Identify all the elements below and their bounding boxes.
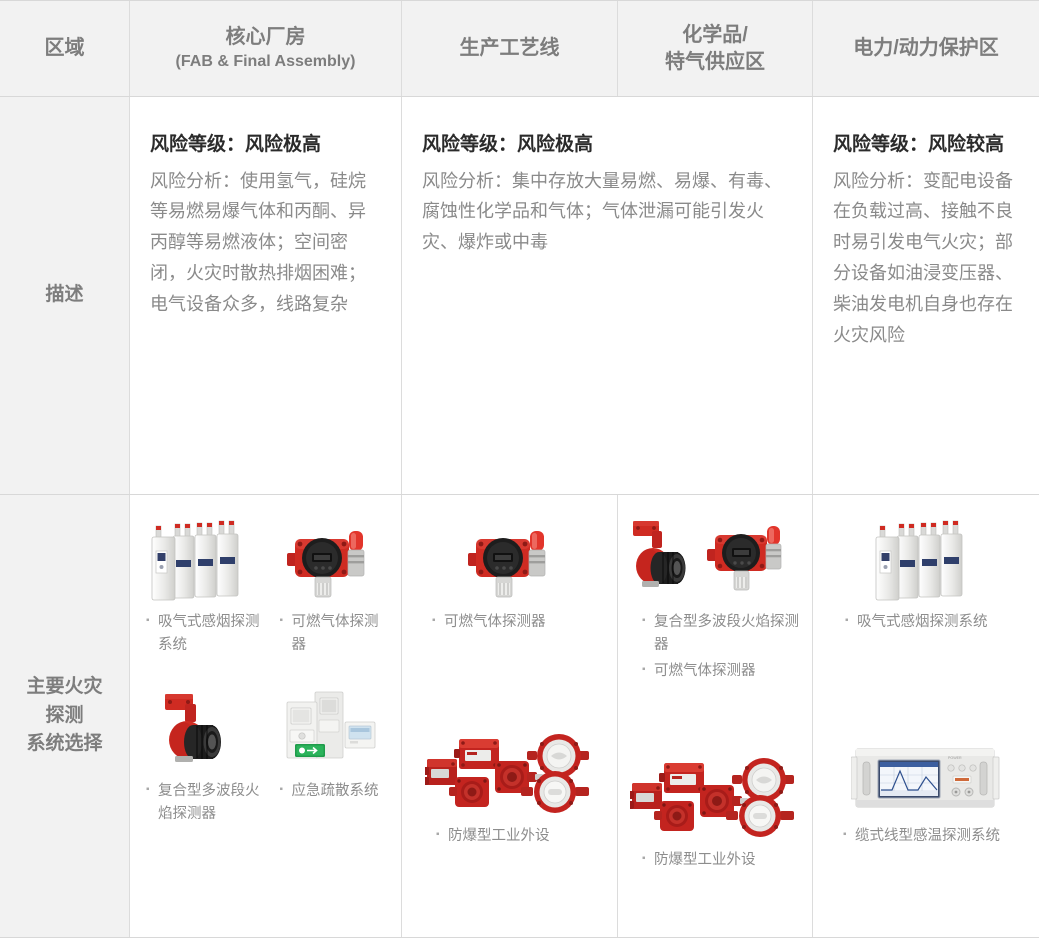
product-flame-and-gas-detectors[interactable]: 复合型多波段火焰探测器 可燃气体探测器	[626, 505, 804, 685]
header-label-production-line: 生产工艺线	[460, 35, 560, 62]
table-header-row: 区域 核心厂房 (FAB & Final Assembly) 生产工艺线 化学品…	[0, 1, 1039, 97]
bullet-icon	[436, 825, 448, 848]
table-header-chemical-gas: 化学品/ 特气供应区	[618, 1, 813, 96]
row-label-detection-systems: 主要火灾 探测 系统选择	[0, 495, 130, 937]
label-list-aspirating-smoke: 吸气式感烟探测系统	[138, 603, 266, 660]
list-item: 防爆型工业外设	[436, 825, 607, 848]
bullet-icon	[280, 611, 292, 658]
table-description-row: 描述 风险等级：风险极高 风险分析：使用氢气，硅烷等易燃易爆气体和丙酮、异丙醇等…	[0, 97, 1039, 495]
description-cell-core-fab: 风险等级：风险极高 风险分析：使用氢气，硅烷等易燃易爆气体和丙酮、异丙醇等易燃液…	[130, 97, 402, 494]
header-sublabel-chemical-gas: 特气供应区	[665, 49, 765, 76]
bullet-icon	[146, 780, 158, 827]
description-cell-production-and-chemical: 风险等级：风险极高 风险分析：集中存放大量易燃、易爆、有毒、腐蚀性化学品和气体；…	[402, 97, 813, 494]
product-aspirating-smoke-detector[interactable]: 吸气式感烟探测系统	[821, 505, 1031, 636]
table-header-power-zone: 电力/动力保护区	[813, 1, 1039, 96]
risk-level-production-chemical: 风险等级：风险极高	[422, 131, 794, 160]
label-list-explosion-proof: 防爆型工业外设	[626, 841, 804, 874]
list-item: 复合型多波段火焰探测器	[146, 780, 264, 827]
product-aspirating-smoke-detector[interactable]: 吸气式感烟探测系统	[138, 505, 266, 660]
table-header-area: 区域	[0, 1, 130, 96]
list-item: 复合型多波段火焰探测器	[642, 611, 802, 658]
risk-level-core-fab: 风险等级：风险极高	[150, 131, 383, 160]
multispectrum-flame-detector-icon	[149, 680, 254, 772]
combustible-gas-detector-icon	[279, 511, 379, 603]
bullet-icon	[642, 660, 654, 683]
explosion-proof-peripherals-icon	[630, 741, 800, 841]
list-item: 应急疏散系统	[280, 780, 392, 803]
table-detection-systems-row: 主要火灾 探测 系统选择	[0, 495, 1039, 937]
header-label-chemical-gas: 化学品/	[682, 24, 748, 46]
emergency-evacuation-system-icon	[277, 680, 382, 772]
header-sublabel-core-fab: (FAB & Final Assembly)	[176, 51, 356, 73]
product-multispectrum-flame-detector[interactable]: 复合型多波段火焰探测器	[138, 674, 266, 829]
bullet-icon	[280, 780, 292, 803]
list-item: 吸气式感烟探测系统	[146, 611, 264, 658]
description-cell-power-zone: 风险等级：风险较高 风险分析：变配电设备在负载过高、接触不良时易引发电气火灾；部…	[813, 97, 1039, 494]
svg-text:POWER: POWER	[948, 756, 962, 760]
risk-level-power-zone: 风险等级：风险较高	[833, 131, 1021, 160]
product-emergency-evacuation-system[interactable]: 应急疏散系统	[266, 674, 394, 829]
header-label-core-fab: 核心厂房	[225, 26, 305, 48]
list-item: 可燃气体探测器	[642, 660, 802, 683]
table-header-core-fab: 核心厂房 (FAB & Final Assembly)	[130, 1, 402, 96]
risk-analysis-core-fab: 风险分析：使用氢气，硅烷等易燃易爆气体和丙酮、异丙醇等易燃液体；空间密闭，火灾时…	[150, 166, 383, 321]
risk-analysis-power-zone: 风险分析：变配电设备在负载过高、接触不良时易引发电气火灾；部分设备如油浸变压器、…	[833, 166, 1021, 352]
combustible-gas-detector-icon	[460, 511, 560, 603]
aspirating-smoke-detector-cabinets-icon	[147, 511, 257, 603]
label-list-combustible-gas: 可燃气体探测器	[266, 603, 394, 660]
risk-analysis-production-chemical: 风险分析：集中存放大量易燃、易爆、有毒、腐蚀性化学品和气体；气体泄漏可能引发火灾…	[422, 166, 794, 259]
label-list-evacuation: 应急疏散系统	[266, 772, 394, 805]
aspirating-smoke-detector-cabinets-icon	[871, 511, 981, 603]
risk-detection-comparison-table: 区域 核心厂房 (FAB & Final Assembly) 生产工艺线 化学品…	[0, 0, 1039, 938]
explosion-proof-peripherals-icon	[425, 717, 595, 817]
bullet-icon	[432, 611, 444, 634]
product-combustible-gas-detector[interactable]: 可燃气体探测器	[410, 505, 609, 636]
label-list-linear-heat: 缆式线型感温探测系统	[821, 817, 1031, 850]
row-label-description: 描述	[0, 97, 130, 494]
list-item: 缆式线型感温探测系统	[843, 825, 1029, 848]
header-label-power-zone: 电力/动力保护区	[853, 35, 999, 62]
label-list-combustible-gas: 可燃气体探测器	[410, 603, 609, 636]
detection-cell-chemical-gas: 复合型多波段火焰探测器 可燃气体探测器	[618, 495, 813, 937]
label-list-flame-detector: 复合型多波段火焰探测器	[138, 772, 266, 829]
label-list-flame-and-gas: 复合型多波段火焰探测器 可燃气体探测器	[626, 603, 804, 685]
bullet-icon	[642, 611, 654, 658]
product-linear-heat-detection-controller[interactable]: POWER	[821, 711, 1031, 850]
product-explosion-proof-peripherals[interactable]: 防爆型工业外设	[410, 711, 609, 850]
product-explosion-proof-peripherals[interactable]: 防爆型工业外设	[626, 735, 804, 874]
detection-cell-production-line: 可燃气体探测器	[402, 495, 618, 937]
list-item: 吸气式感烟探测系统	[845, 611, 1029, 634]
table-header-production-line: 生产工艺线	[402, 1, 618, 96]
list-item: 可燃气体探测器	[280, 611, 392, 658]
linear-heat-detection-controller-icon: POWER	[851, 717, 1001, 817]
label-list-explosion-proof: 防爆型工业外设	[410, 817, 609, 850]
detection-cell-power-zone: 吸气式感烟探测系统	[813, 495, 1039, 937]
bullet-icon	[845, 611, 857, 634]
header-label-area: 区域	[45, 35, 85, 62]
list-item: 防爆型工业外设	[642, 849, 802, 872]
label-list-aspirating-smoke: 吸气式感烟探测系统	[821, 603, 1031, 636]
list-item: 可燃气体探测器	[432, 611, 607, 634]
bullet-icon	[843, 825, 855, 848]
bullet-icon	[642, 849, 654, 872]
product-combustible-gas-detector[interactable]: 可燃气体探测器	[266, 505, 394, 660]
flame-and-gas-detector-pair-icon	[625, 511, 805, 603]
bullet-icon	[146, 611, 158, 658]
detection-cell-core-fab: 吸气式感烟探测系统	[130, 495, 402, 937]
